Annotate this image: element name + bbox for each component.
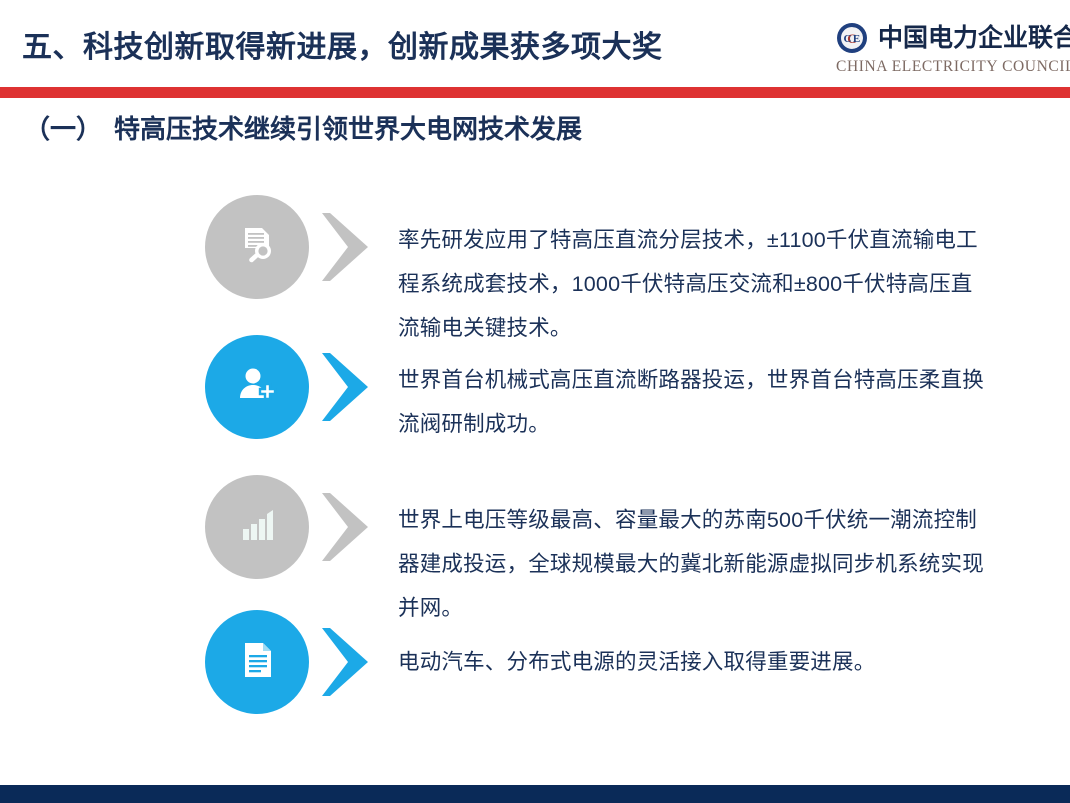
bullet-text: 世界上电压等级最高、容量最大的苏南500千伏统一潮流控制器建成投运，全球规模最大… <box>398 475 990 630</box>
chevron-right-icon <box>318 351 376 423</box>
bullet-marker <box>205 610 390 714</box>
bullet-text: 率先研发应用了特高压直流分层技术，±1100千伏直流输电工程系统成套技术，100… <box>398 195 990 350</box>
logo-name-en: CHINA ELECTRICITY COUNCIL <box>836 58 1064 76</box>
section-subtitle-text: 特高压技术继续引领世界大电网技术发展 <box>114 114 582 144</box>
bullet-marker <box>205 475 390 579</box>
bullet-icon-circle <box>205 475 309 579</box>
section-subtitle: （一）特高压技术继续引领世界大电网技术发展 <box>24 109 582 146</box>
slide-footer-bar <box>0 785 1070 803</box>
add-user-icon <box>232 360 282 415</box>
chevron-right-icon <box>318 211 376 283</box>
cec-seal-icon: C C E <box>836 22 868 54</box>
bullet-marker <box>205 335 390 439</box>
document-search-icon <box>232 220 282 275</box>
list-item: 率先研发应用了特高压直流分层技术，±1100千伏直流输电工程系统成套技术，100… <box>0 195 1070 350</box>
bullet-icon-circle <box>205 335 309 439</box>
organization-logo: C C E 中国电力企业联合会 CHINA ELECTRICITY COUNCI… <box>836 21 1064 77</box>
bullet-list: 率先研发应用了特高压直流分层技术，±1100千伏直流输电工程系统成套技术，100… <box>0 185 1070 725</box>
page-title: 五、科技创新取得新进展，创新成果获多项大奖 <box>22 22 663 66</box>
list-item: 世界首台机械式高压直流断路器投运，世界首台特高压柔直换流阀研制成功。 <box>0 335 1070 446</box>
logo-name-cn: 中国电力企业联合会 <box>878 26 1070 51</box>
document-icon <box>234 637 280 688</box>
list-item: 电动汽车、分布式电源的灵活接入取得重要进展。 <box>0 610 1070 714</box>
bullet-icon-circle <box>205 610 309 714</box>
list-item: 世界上电压等级最高、容量最大的苏南500千伏统一潮流控制器建成投运，全球规模最大… <box>0 475 1070 630</box>
section-number: （一） <box>24 114 102 144</box>
bullet-text: 世界首台机械式高压直流断路器投运，世界首台特高压柔直换流阀研制成功。 <box>398 335 990 446</box>
svg-text:C: C <box>844 33 852 45</box>
chevron-right-icon <box>318 626 376 698</box>
chevron-right-icon <box>318 491 376 563</box>
bullet-marker <box>205 195 390 299</box>
slide-header: 五、科技创新取得新进展，创新成果获多项大奖 C C E 中国电力企业联合会 CH… <box>0 0 1070 87</box>
bullet-text: 电动汽车、分布式电源的灵活接入取得重要进展。 <box>398 610 990 684</box>
bullet-icon-circle <box>205 195 309 299</box>
svg-text:E: E <box>853 33 860 45</box>
bar-chart-icon <box>235 503 279 552</box>
header-divider-rule <box>0 87 1070 98</box>
